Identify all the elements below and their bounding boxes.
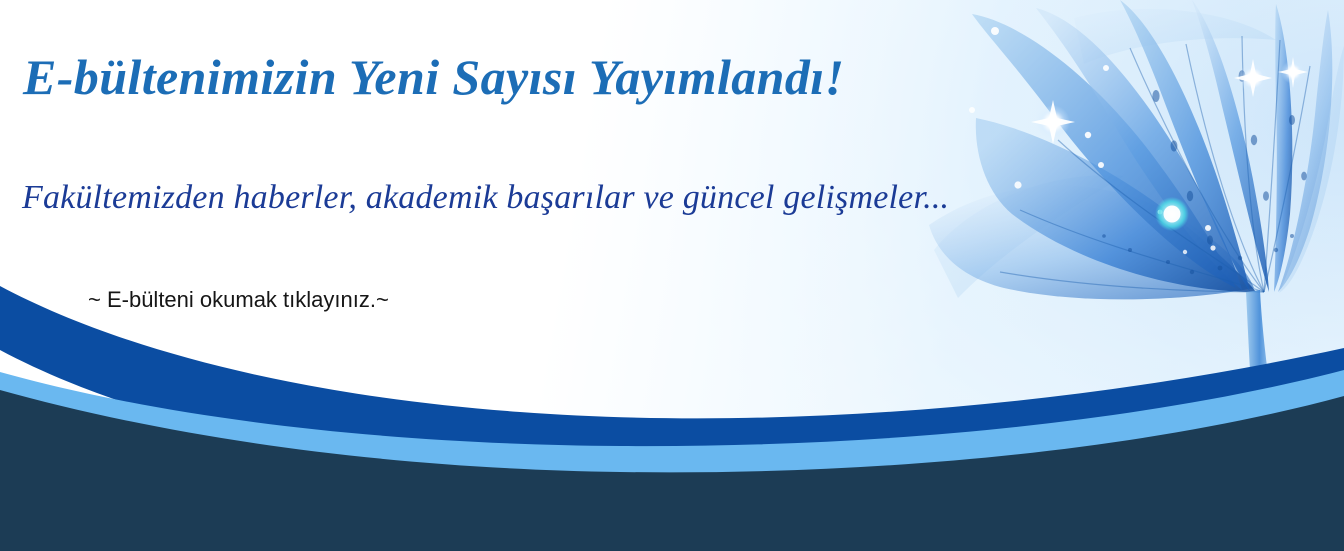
banner-subtitle: Fakültemizden haberler, akademik başarıl… — [22, 178, 949, 219]
page-title: E-bültenimizin Yeni Sayısı Yayımlandı! — [23, 48, 844, 107]
banner-content: E-bültenimizin Yeni Sayısı Yayımlandı! F… — [0, 0, 1180, 340]
read-newsletter-link[interactable]: ~ E-bülteni okumak tıklayınız.~ — [88, 287, 389, 312]
newsletter-banner: E-bültenimizin Yeni Sayısı Yayımlandı! F… — [0, 0, 1344, 551]
cta-row: ~ E-bülteni okumak tıklayınız.~ — [88, 287, 389, 313]
